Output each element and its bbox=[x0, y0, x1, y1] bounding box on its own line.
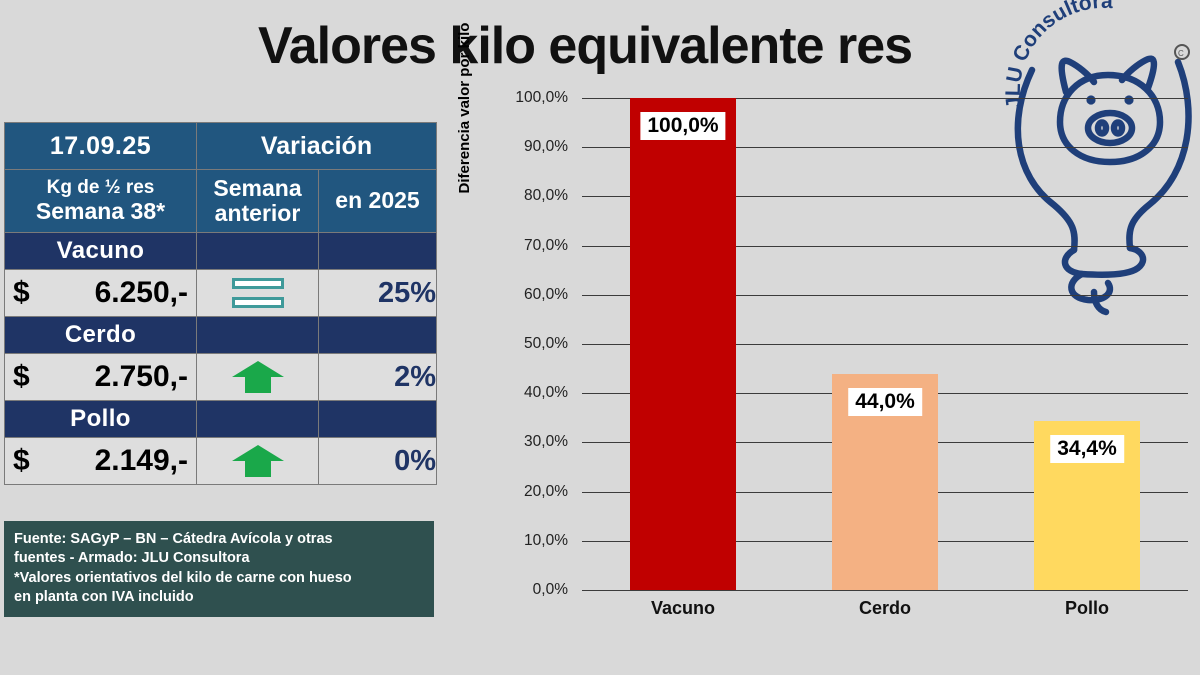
x-axis-label-cerdo: Cerdo bbox=[859, 598, 911, 619]
footnote-line-2: fuentes - Armado: JLU Consultora bbox=[14, 549, 424, 568]
category-spacer-cerdo-2 bbox=[319, 317, 437, 354]
y-axis-tick: 60,0% bbox=[476, 286, 568, 304]
page-title: Valores kilo equivalente res bbox=[150, 16, 1020, 76]
bar-data-label: 34,4% bbox=[1050, 435, 1124, 463]
variation-2025-pollo: 0% bbox=[319, 438, 437, 485]
trend-cell-cerdo bbox=[197, 354, 319, 401]
category-spacer-vacuno-1 bbox=[197, 233, 319, 270]
y-axis-tick: 10,0% bbox=[476, 532, 568, 550]
gridline bbox=[582, 590, 1188, 591]
price-cell-pollo: $ 2.149,- bbox=[5, 438, 197, 485]
price-cell-vacuno: $ 6.250,- bbox=[5, 270, 197, 317]
header-en-2025-label: en 2025 bbox=[319, 188, 436, 213]
header-kg-media-res: Kg de ½ res Semana 38* bbox=[5, 170, 197, 233]
footnote-line-4: en planta con IVA incluido bbox=[14, 588, 424, 607]
footnote-line-1: Fuente: SAGyP – BN – Cátedra Avícola y o… bbox=[14, 530, 424, 549]
arrow-up-icon bbox=[231, 360, 285, 394]
trend-cell-pollo bbox=[197, 438, 319, 485]
header-en-2025: en 2025 bbox=[319, 170, 437, 233]
y-axis-tick: 20,0% bbox=[476, 483, 568, 501]
variation-2025-vacuno: 25% bbox=[319, 270, 437, 317]
price-value-pollo: 2.149,- bbox=[95, 444, 188, 478]
y-axis-tick: 100,0% bbox=[476, 89, 568, 107]
category-spacer-pollo-2 bbox=[319, 401, 437, 438]
header-semana-anterior: Semana anterior bbox=[197, 170, 319, 233]
table-row-values-pollo: $ 2.149,- 0% bbox=[5, 438, 437, 485]
table-header-row-2: Kg de ½ res Semana 38* Semana anterior e… bbox=[5, 170, 437, 233]
category-label-vacuno: Vacuno bbox=[5, 233, 197, 270]
svg-text:C: C bbox=[1178, 49, 1184, 58]
logo-text: JLU Consultora bbox=[1002, 0, 1114, 110]
table-row-values-cerdo: $ 2.750,- 2% bbox=[5, 354, 437, 401]
bar-cerdo: 44,0% bbox=[832, 374, 937, 590]
price-cell-cerdo: $ 2.750,- bbox=[5, 354, 197, 401]
currency-symbol-pollo: $ bbox=[13, 444, 30, 478]
category-label-cerdo: Cerdo bbox=[5, 317, 197, 354]
bar-vacuno: 100,0% bbox=[630, 98, 735, 590]
variation-2025-cerdo: 2% bbox=[319, 354, 437, 401]
source-footnote: Fuente: SAGyP – BN – Cátedra Avícola y o… bbox=[4, 521, 434, 617]
arrow-up-icon bbox=[231, 444, 285, 478]
table-row-values-vacuno: $ 6.250,- 25% bbox=[5, 270, 437, 317]
y-axis-tick: 80,0% bbox=[476, 187, 568, 205]
bar-chart: Diferencia valor por kilo 0,0%10,0%20,0%… bbox=[462, 98, 1192, 638]
bar-data-label: 100,0% bbox=[640, 112, 725, 140]
x-axis-label-pollo: Pollo bbox=[1065, 598, 1109, 619]
table-row-category-pollo: Pollo bbox=[5, 401, 437, 438]
footnote-line-3: *Valores orientativos del kilo de carne … bbox=[14, 569, 424, 588]
bar-data-label: 44,0% bbox=[848, 388, 922, 416]
y-axis-tick: 50,0% bbox=[476, 335, 568, 353]
trend-cell-vacuno bbox=[197, 270, 319, 317]
header-date: 17.09.25 bbox=[5, 123, 197, 170]
chart-plot-area: 100,0%44,0%34,4% bbox=[582, 98, 1188, 590]
y-axis-title: Diferencia valor por kilo bbox=[456, 0, 473, 238]
x-axis-tick-labels: VacunoCerdoPollo bbox=[582, 598, 1188, 632]
price-value-vacuno: 6.250,- bbox=[95, 276, 188, 310]
category-spacer-vacuno-2 bbox=[319, 233, 437, 270]
price-value-cerdo: 2.750,- bbox=[95, 360, 188, 394]
header-semana-line1: Semana bbox=[197, 176, 318, 201]
category-label-pollo: Pollo bbox=[5, 401, 197, 438]
y-axis-tick: 30,0% bbox=[476, 433, 568, 451]
category-spacer-pollo-1 bbox=[197, 401, 319, 438]
header-semana-line2: anterior bbox=[197, 201, 318, 226]
table-row-category-vacuno: Vacuno bbox=[5, 233, 437, 270]
price-table: 17.09.25 Variación Kg de ½ res Semana 38… bbox=[4, 122, 437, 485]
header-kg-line1: Kg de ½ res bbox=[5, 178, 196, 199]
currency-symbol-cerdo: $ bbox=[13, 360, 30, 394]
y-axis-tick: 90,0% bbox=[476, 138, 568, 156]
y-axis-tick: 0,0% bbox=[476, 581, 568, 599]
category-spacer-cerdo-1 bbox=[197, 317, 319, 354]
table-row-category-cerdo: Cerdo bbox=[5, 317, 437, 354]
currency-symbol-vacuno: $ bbox=[13, 276, 30, 310]
y-axis-tick: 40,0% bbox=[476, 384, 568, 402]
equals-icon bbox=[232, 278, 284, 308]
y-axis-tick: 70,0% bbox=[476, 237, 568, 255]
svg-text:JLU Consultora: JLU Consultora bbox=[1002, 0, 1114, 110]
header-variacion: Variación bbox=[197, 123, 437, 170]
header-kg-line2: Semana 38* bbox=[5, 199, 196, 224]
y-axis-tick-labels: 0,0%10,0%20,0%30,0%40,0%50,0%60,0%70,0%8… bbox=[476, 98, 568, 590]
x-axis-label-vacuno: Vacuno bbox=[651, 598, 715, 619]
bar-pollo: 34,4% bbox=[1034, 421, 1139, 590]
table-header-row-1: 17.09.25 Variación bbox=[5, 123, 437, 170]
